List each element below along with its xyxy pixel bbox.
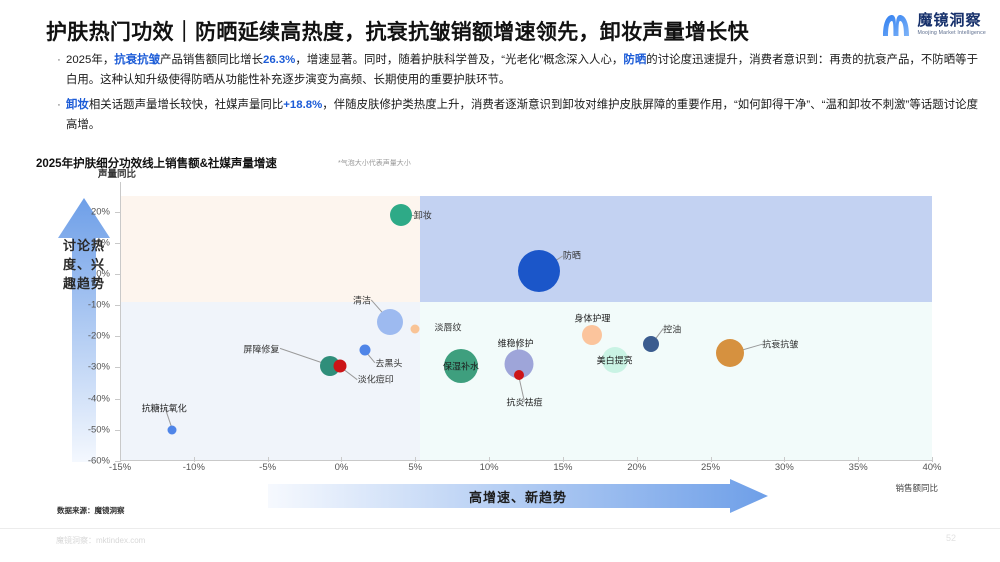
bullet-span: ，增速显著。同时，随着护肤科学普及，“光老化”概念深入人心，: [295, 54, 623, 66]
moojing-m-icon: [881, 12, 911, 38]
bubble-抗糖抗氧化[interactable]: [167, 425, 176, 434]
chart-note: *气泡大小代表声量大小: [338, 158, 411, 168]
y-axis-tick-label: -20%: [88, 331, 110, 342]
data-source: 数据来源：魔镜洞察: [57, 505, 125, 516]
bubble-label: 控油: [663, 322, 681, 335]
bubble-label: 防晒: [563, 249, 581, 262]
y-axis-tick-label: -30%: [88, 362, 110, 373]
quadrant-top-left: [120, 196, 420, 302]
bubble-淡唇纹[interactable]: [411, 324, 420, 333]
bullet-text: 卸妆相关话题声量增长较快，社媒声量同比+18.8%，伴随皮肤修护类热度上升，消费…: [66, 95, 978, 135]
y-axis-tick: [115, 243, 120, 244]
high-growth-arrow: [268, 479, 768, 513]
x-axis-tick-label: 0%: [335, 462, 349, 473]
y-axis-tick: [115, 461, 120, 462]
bubble-label: 屏障修复: [243, 342, 279, 355]
bullet-span: 相关话题声量增长较快，社媒声量同比: [89, 99, 283, 111]
y-axis-tick-label: 10%: [91, 237, 110, 248]
page-number: 52: [946, 533, 956, 543]
bubble-label: 抗炎祛痘: [507, 395, 543, 408]
bubble-控油[interactable]: [643, 336, 659, 352]
bullet-span: 2025年，: [66, 54, 114, 66]
bullet-list: ·2025年，抗衰抗皱产品销售额同比增长26.3%，增速显著。同时，随着护肤科学…: [52, 50, 978, 140]
x-axis-tick-label: 40%: [922, 462, 941, 473]
x-axis-tick-label: -15%: [109, 462, 131, 473]
x-axis-tick-label: 30%: [775, 462, 794, 473]
bubble-label: 维稳修护: [498, 336, 534, 349]
bullet-highlight: 26.3%: [263, 54, 295, 66]
bubble-label: 美白提亮: [597, 353, 633, 366]
x-axis-tick-label: -10%: [183, 462, 205, 473]
bubble-抗炎祛痘[interactable]: [514, 370, 524, 380]
bubble-淡化痘印[interactable]: [333, 359, 346, 372]
x-axis-tick-label: 15%: [553, 462, 572, 473]
bubble-label: 抗衰抗皱: [762, 338, 798, 351]
bubble-去黑头[interactable]: [360, 345, 371, 356]
x-axis-title: 销售额同比: [895, 482, 938, 494]
y-axis-tick-label: -60%: [88, 456, 110, 467]
bubble-身体护理[interactable]: [582, 325, 602, 345]
y-axis-tick: [115, 336, 120, 337]
x-axis-tick-label: -5%: [259, 462, 276, 473]
footer-divider: [0, 528, 1000, 529]
x-axis-tick-label: 25%: [701, 462, 720, 473]
slide-root: 护肤热门功效｜防晒延续高热度，抗衰抗皱销额增速领先，卸妆声量增长快 魔镜洞察 M…: [0, 0, 1000, 562]
chart-title: 2025年护肤细分功效线上销售额&社媒声量增速: [36, 155, 277, 171]
bullet-highlight: 抗衰抗皱: [114, 54, 160, 66]
bubble-label: 保湿补水: [443, 359, 479, 372]
bubble-label: 身体护理: [574, 311, 610, 324]
y-axis-tick: [115, 274, 120, 275]
brand-wordmark: 魔镜洞察 Moojing Market Intelligence: [917, 13, 986, 36]
bubble-chart-plot: 声量同比 销售额同比 -15%-10%-5%0%5%10%15%20%25%30…: [120, 196, 932, 461]
bubble-清洁[interactable]: [377, 309, 403, 335]
x-axis-tick-label: 35%: [849, 462, 868, 473]
y-axis-line: [120, 182, 121, 461]
bullet-marker: ·: [52, 95, 66, 135]
bubble-卸妆[interactable]: [390, 204, 412, 226]
bullet-marker: ·: [52, 50, 66, 90]
bullet-highlight: 卸妆: [66, 99, 89, 111]
y-axis-tick-label: -40%: [88, 393, 110, 404]
bullet-span: 产品销售额同比增长: [160, 54, 263, 66]
bubble-抗衰抗皱[interactable]: [716, 339, 744, 367]
y-axis-tick: [115, 305, 120, 306]
y-axis-tick-label: 0%: [96, 268, 110, 279]
x-axis-line: [120, 460, 932, 461]
y-axis-tick-label: -50%: [88, 424, 110, 435]
bubble-label: 卸妆: [414, 209, 432, 222]
bubble-防晒[interactable]: [518, 250, 560, 292]
y-axis-tick: [115, 430, 120, 431]
x-axis-tick-label: 10%: [480, 462, 499, 473]
bullet-text: 2025年，抗衰抗皱产品销售额同比增长26.3%，增速显著。同时，随着护肤科学普…: [66, 50, 978, 90]
page-title: 护肤热门功效｜防晒延续高热度，抗衰抗皱销额增速领先，卸妆声量增长快: [46, 16, 749, 46]
quadrant-top-right: [420, 196, 932, 302]
bullet-item: ·卸妆相关话题声量增长较快，社媒声量同比+18.8%，伴随皮肤修护类热度上升，消…: [52, 95, 978, 135]
title-row: 护肤热门功效｜防晒延续高热度，抗衰抗皱销额增速领先，卸妆声量增长快: [46, 14, 960, 48]
bubble-label: 淡唇纹: [434, 320, 461, 333]
y-axis-tick: [115, 367, 120, 368]
brand-name-en: Moojing Market Intelligence: [917, 31, 986, 36]
y-axis-tick-label: -10%: [88, 300, 110, 311]
y-axis-title: 声量同比: [98, 166, 136, 180]
y-axis-tick: [115, 399, 120, 400]
bubble-label: 淡化痘印: [358, 373, 394, 386]
brand-name-cn: 魔镜洞察: [917, 13, 986, 28]
footer-brand-url: 魔镜洞察：mktindex.com: [56, 535, 145, 546]
y-axis-tick: [115, 212, 120, 213]
y-axis-tick-label: 20%: [91, 206, 110, 217]
x-axis-tick-label: 20%: [627, 462, 646, 473]
bullet-highlight: +18.8%: [283, 99, 322, 111]
x-axis-tick-label: 5%: [408, 462, 422, 473]
bullet-highlight: 防晒: [623, 54, 646, 66]
bubble-label: 抗糖抗氧化: [142, 402, 187, 415]
bubble-label: 清洁: [353, 294, 371, 307]
bubble-label: 去黑头: [375, 356, 402, 369]
bullet-item: ·2025年，抗衰抗皱产品销售额同比增长26.3%，增速显著。同时，随着护肤科学…: [52, 50, 978, 90]
brand-logo: 魔镜洞察 Moojing Market Intelligence: [881, 12, 986, 38]
